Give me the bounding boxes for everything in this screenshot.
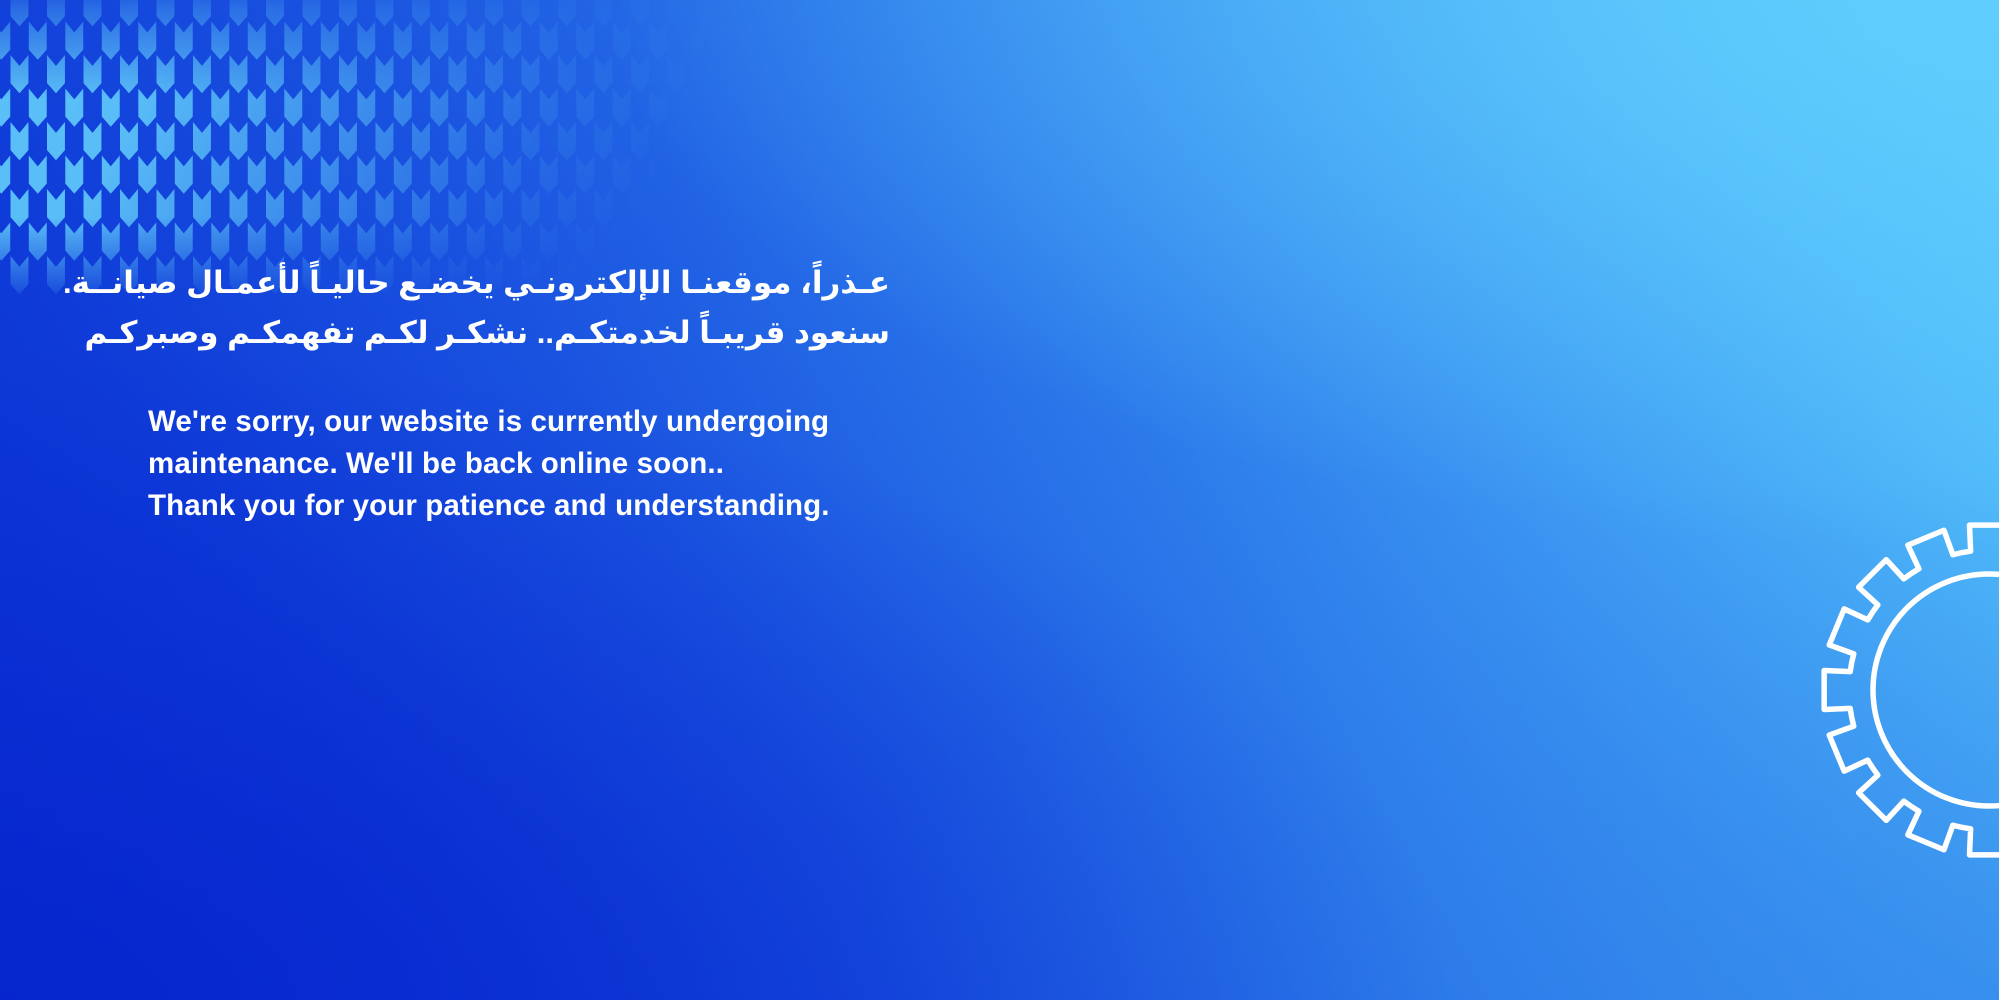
message-arabic-line-1: عـذراً، موقعنـا الإلكترونـي يخضـع حاليـا… <box>148 258 890 308</box>
message-english-line-3: Thank you for your patience and understa… <box>148 485 1148 527</box>
maintenance-message: عـذراً، موقعنـا الإلكترونـي يخضـع حاليـا… <box>148 258 1148 527</box>
maintenance-page: عـذراً، موقعنـا الإلكترونـي يخضـع حاليـا… <box>0 0 1999 1000</box>
message-english-line-1: We're sorry, our website is currently un… <box>148 401 1148 443</box>
message-arabic: عـذراً، موقعنـا الإلكترونـي يخضـع حاليـا… <box>148 258 890 358</box>
message-arabic-line-2: سنعود قريبـاً لخدمتكـم.. نشكـر لكـم تفهم… <box>148 308 890 358</box>
message-english-line-2: maintenance. We'll be back online soon.. <box>148 443 1148 485</box>
message-english: We're sorry, our website is currently un… <box>148 401 1148 527</box>
